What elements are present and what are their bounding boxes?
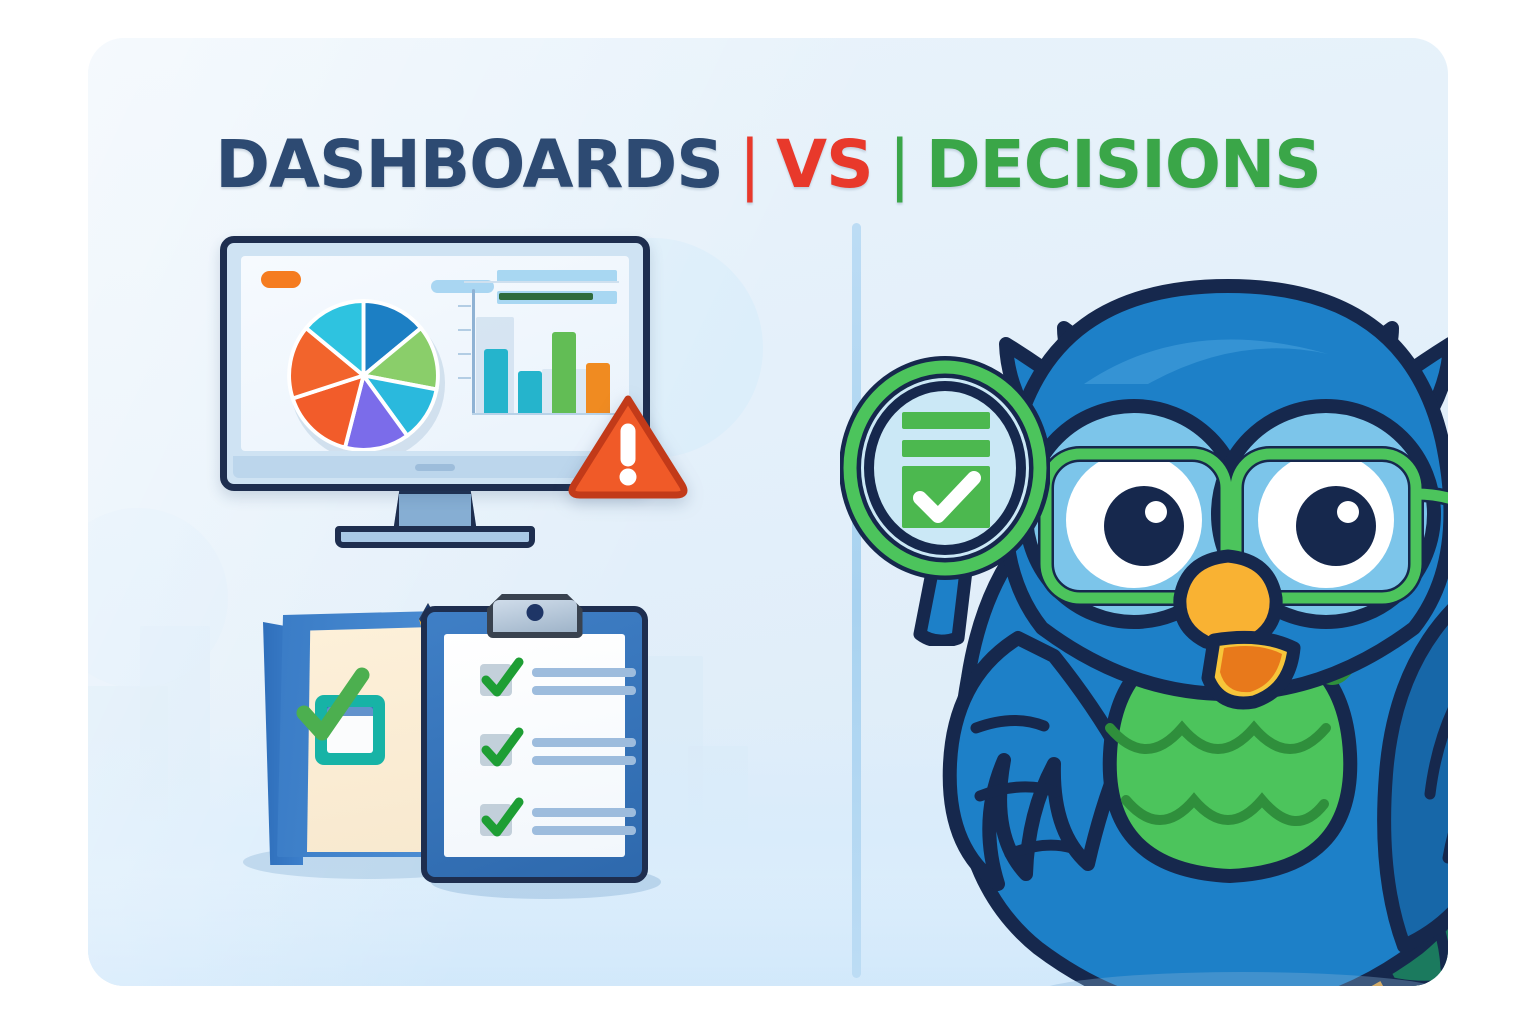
bar-chart-tick bbox=[458, 377, 471, 379]
bar-chart-y-axis bbox=[472, 289, 475, 415]
checklist-check-icon bbox=[478, 794, 526, 842]
owl-pupil-right bbox=[1296, 486, 1376, 566]
decision-checklist-clipboard bbox=[421, 606, 648, 883]
pie-chart bbox=[286, 298, 441, 451]
title-right-word: DECISIONS bbox=[926, 126, 1321, 203]
magnifier-icon bbox=[840, 356, 1050, 646]
checklist-line bbox=[532, 686, 636, 695]
bar-chart-tick bbox=[458, 305, 471, 307]
pie-chart-svg bbox=[286, 298, 441, 451]
page-title: DASHBOARDS|VS|DECISIONS bbox=[88, 126, 1448, 203]
checklist-check-icon bbox=[478, 724, 526, 772]
bar-chart-tick bbox=[458, 329, 471, 331]
bar-chart-bar bbox=[484, 349, 508, 413]
checklist-line bbox=[532, 808, 636, 817]
magnifier-bar-1 bbox=[902, 412, 990, 429]
warning-alert bbox=[568, 393, 688, 499]
title-separator-right: | bbox=[889, 126, 910, 203]
illustration-card: DASHBOARDS|VS|DECISIONS bbox=[88, 38, 1448, 986]
bar-chart-bar bbox=[518, 371, 542, 413]
dashboard-badge-pill bbox=[261, 271, 301, 288]
monitor-stand-base bbox=[335, 526, 535, 548]
title-left-word: DASHBOARDS bbox=[215, 126, 723, 203]
checklist-line bbox=[532, 668, 636, 677]
title-middle-word: VS bbox=[776, 126, 873, 203]
checklist-row[interactable] bbox=[480, 730, 640, 774]
pie-chart-slices bbox=[286, 298, 441, 451]
illustration-canvas: DASHBOARDS|VS|DECISIONS bbox=[0, 0, 1536, 1024]
checklist-check-icon bbox=[478, 654, 526, 702]
bar-chart-tick bbox=[458, 353, 471, 355]
title-separator-left: | bbox=[739, 126, 760, 203]
clipboard-board bbox=[421, 606, 648, 883]
clipboard-clip-hole bbox=[526, 604, 543, 621]
warning-triangle-icon bbox=[568, 393, 688, 499]
magnifying-glass-verified bbox=[840, 356, 1050, 646]
checklist-row[interactable] bbox=[480, 800, 640, 844]
checklist-line bbox=[532, 738, 636, 747]
owl-pupil-left bbox=[1104, 486, 1184, 566]
folder-check-icon bbox=[296, 667, 370, 747]
monitor-notch bbox=[415, 464, 455, 471]
magnifier-bar-2 bbox=[902, 440, 990, 457]
clipboard-paper bbox=[444, 634, 625, 857]
checklist-line bbox=[532, 826, 636, 835]
checklist-row[interactable] bbox=[480, 660, 640, 704]
checklist-line bbox=[532, 756, 636, 765]
bar-chart-top-rule bbox=[464, 281, 619, 283]
